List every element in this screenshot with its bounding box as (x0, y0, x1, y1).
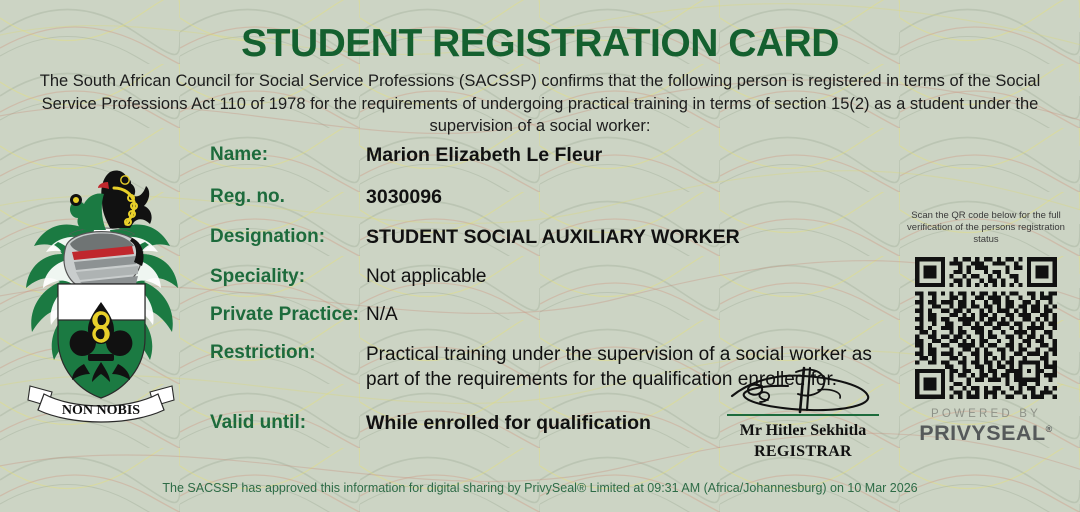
sacssp-coat-of-arms-icon: NON NOBIS (14, 142, 189, 427)
emblem-motto: NON NOBIS (62, 403, 140, 418)
powered-by-label: POWERED BY (900, 408, 1072, 420)
field-value-private-practice: N/A (366, 304, 398, 326)
page-title: STUDENT REGISTRATION CARD (0, 22, 1080, 66)
signature-block: Mr Hitler Sekhitla REGISTRAR (718, 366, 888, 461)
field-label-speciality: Speciality: (210, 266, 305, 288)
field-label-valid-until: Valid until: (210, 412, 306, 434)
registrar-role: REGISTRAR (718, 443, 888, 461)
intro-paragraph: The South African Council for Social Ser… (34, 70, 1046, 138)
qr-caption: Scan the QR code below for the full veri… (900, 210, 1072, 246)
field-label-reg-no: Reg. no. (210, 186, 285, 208)
student-registration-card: STUDENT REGISTRATION CARD The South Afri… (0, 0, 1080, 512)
approval-footer: The SACSSP has approved this information… (0, 481, 1080, 495)
registrar-name: Mr Hitler Sekhitla (718, 422, 888, 440)
signature-line (727, 414, 879, 416)
privyseal-brand-text: PRIVYSEAL (919, 421, 1045, 445)
field-value-name: Marion Elizabeth Le Fleur (366, 144, 602, 167)
field-label-private-practice: Private Practice: (210, 304, 359, 326)
privyseal-brand: PRIVYSEAL® (900, 421, 1072, 446)
field-label-designation: Designation: (210, 226, 325, 248)
qr-code[interactable] (915, 257, 1057, 399)
registered-trademark-mark: ® (1046, 424, 1053, 434)
field-label-name: Name: (210, 144, 268, 166)
field-value-valid-until: While enrolled for qualification (366, 412, 651, 435)
field-label-restriction: Restriction: (210, 342, 316, 364)
field-value-speciality: Not applicable (366, 266, 486, 288)
field-value-designation: STUDENT SOCIAL AUXILIARY WORKER (366, 226, 740, 249)
field-value-reg-no: 3030096 (366, 186, 442, 209)
handwritten-signature-icon (718, 366, 888, 414)
qr-verification-panel: Scan the QR code below for the full veri… (900, 210, 1072, 446)
